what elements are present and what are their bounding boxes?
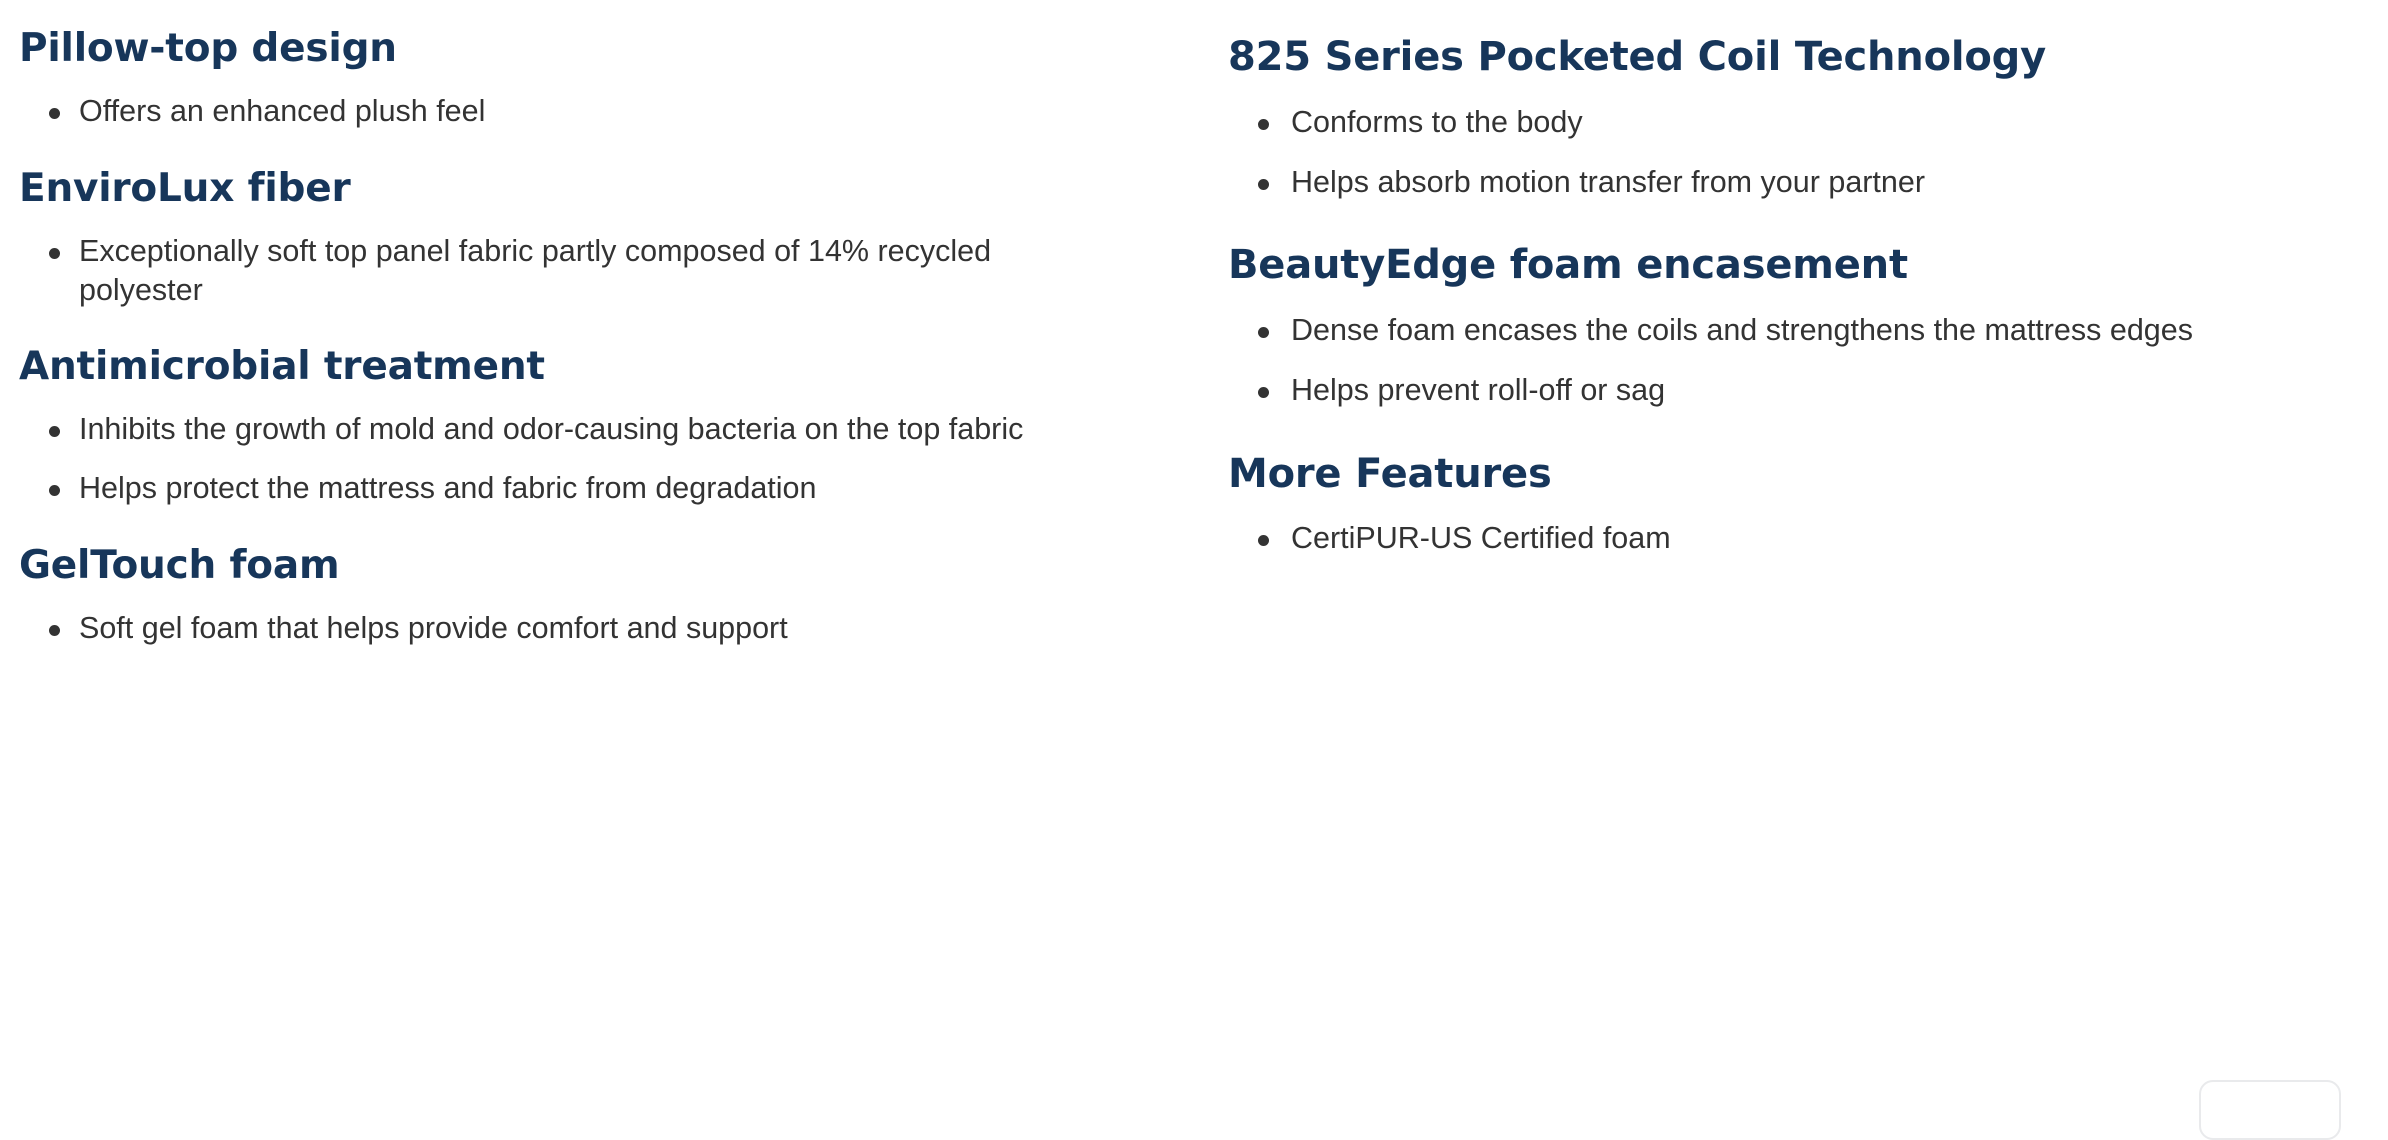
- feature-block-beautyedge-foam-encasement: BeautyEdge foam encasement Dense foam en…: [1228, 241, 2328, 409]
- feature-bullet-list: Conforms to the body Helps absorb motion…: [1228, 103, 2328, 201]
- list-item: Soft gel foam that helps provide comfort…: [19, 609, 1084, 648]
- list-item-text: Dense foam encases the coils and strengt…: [1291, 313, 2193, 347]
- bullet-icon: [1258, 327, 1269, 338]
- feature-bullet-list: Exceptionally soft top panel fabric part…: [19, 232, 1084, 309]
- feature-heading: GelTouch foam: [19, 543, 1084, 589]
- list-item: Offers an enhanced plush feel: [19, 92, 1084, 131]
- list-item-text: Exceptionally soft top panel fabric part…: [79, 234, 991, 307]
- bullet-icon: [1258, 535, 1269, 546]
- product-features-grid: Pillow-top design Offers an enhanced plu…: [0, 0, 2388, 1093]
- list-item-text: CertiPUR-US Certified foam: [1291, 521, 1671, 555]
- feature-heading: More Features: [1228, 450, 2328, 499]
- list-item-text: Conforms to the body: [1291, 105, 1583, 139]
- list-item: Helps prevent roll-off or sag: [1228, 371, 2328, 410]
- feature-block-more-features: More Features CertiPUR-US Certified foam: [1228, 450, 2328, 559]
- bullet-icon: [1258, 387, 1269, 398]
- list-item-text: Offers an enhanced plush feel: [79, 94, 485, 128]
- feature-bullet-list: Dense foam encases the coils and strengt…: [1228, 311, 2328, 409]
- list-item-text: Soft gel foam that helps provide comfort…: [79, 611, 788, 645]
- feature-block-antimicrobial-treatment: Antimicrobial treatment Inhibits the gro…: [19, 344, 1084, 507]
- feature-block-envirolux-fiber: EnviroLux fiber Exceptionally soft top p…: [19, 166, 1084, 309]
- bullet-icon: [49, 108, 60, 119]
- feature-bullet-list: Soft gel foam that helps provide comfort…: [19, 609, 1084, 648]
- feature-block-pillow-top-design: Pillow-top design Offers an enhanced plu…: [19, 26, 1084, 131]
- feature-heading: EnviroLux fiber: [19, 166, 1084, 212]
- list-item-text: Helps absorb motion transfer from your p…: [1291, 165, 1925, 199]
- feature-bullet-list: Inhibits the growth of mold and odor-cau…: [19, 410, 1084, 507]
- list-item-text: Helps protect the mattress and fabric fr…: [79, 471, 816, 505]
- list-item: Exceptionally soft top panel fabric part…: [19, 232, 1084, 309]
- features-column-left: Pillow-top design Offers an enhanced plu…: [0, 0, 1194, 647]
- feature-bullet-list: Offers an enhanced plush feel: [19, 92, 1084, 131]
- list-item: CertiPUR-US Certified foam: [1228, 519, 2328, 558]
- bullet-icon: [1258, 119, 1269, 130]
- bullet-icon: [1258, 179, 1269, 190]
- list-item: Helps absorb motion transfer from your p…: [1228, 163, 2328, 202]
- list-item-text: Helps prevent roll-off or sag: [1291, 373, 1665, 407]
- feature-bullet-list: CertiPUR-US Certified foam: [1228, 519, 2328, 558]
- feature-block-825-series-pocketed-coil-technology: 825 Series Pocketed Coil Technology Conf…: [1228, 33, 2328, 201]
- list-item: Dense foam encases the coils and strengt…: [1228, 311, 2328, 350]
- bullet-icon: [49, 625, 60, 636]
- feature-block-geltouch-foam: GelTouch foam Soft gel foam that helps p…: [19, 543, 1084, 648]
- features-column-right: 825 Series Pocketed Coil Technology Conf…: [1194, 0, 2388, 558]
- feature-heading: 825 Series Pocketed Coil Technology: [1228, 33, 2328, 82]
- chat-widget-launcher[interactable]: [2199, 1080, 2341, 1140]
- list-item: Conforms to the body: [1228, 103, 2328, 142]
- list-item: Inhibits the growth of mold and odor-cau…: [19, 410, 1084, 449]
- bullet-icon: [49, 248, 60, 259]
- feature-heading: BeautyEdge foam encasement: [1228, 241, 2328, 290]
- feature-heading: Pillow-top design: [19, 26, 1084, 72]
- bullet-icon: [49, 426, 60, 437]
- bullet-icon: [49, 485, 60, 496]
- list-item: Helps protect the mattress and fabric fr…: [19, 469, 1084, 508]
- list-item-text: Inhibits the growth of mold and odor-cau…: [79, 412, 1023, 446]
- feature-heading: Antimicrobial treatment: [19, 344, 1084, 390]
